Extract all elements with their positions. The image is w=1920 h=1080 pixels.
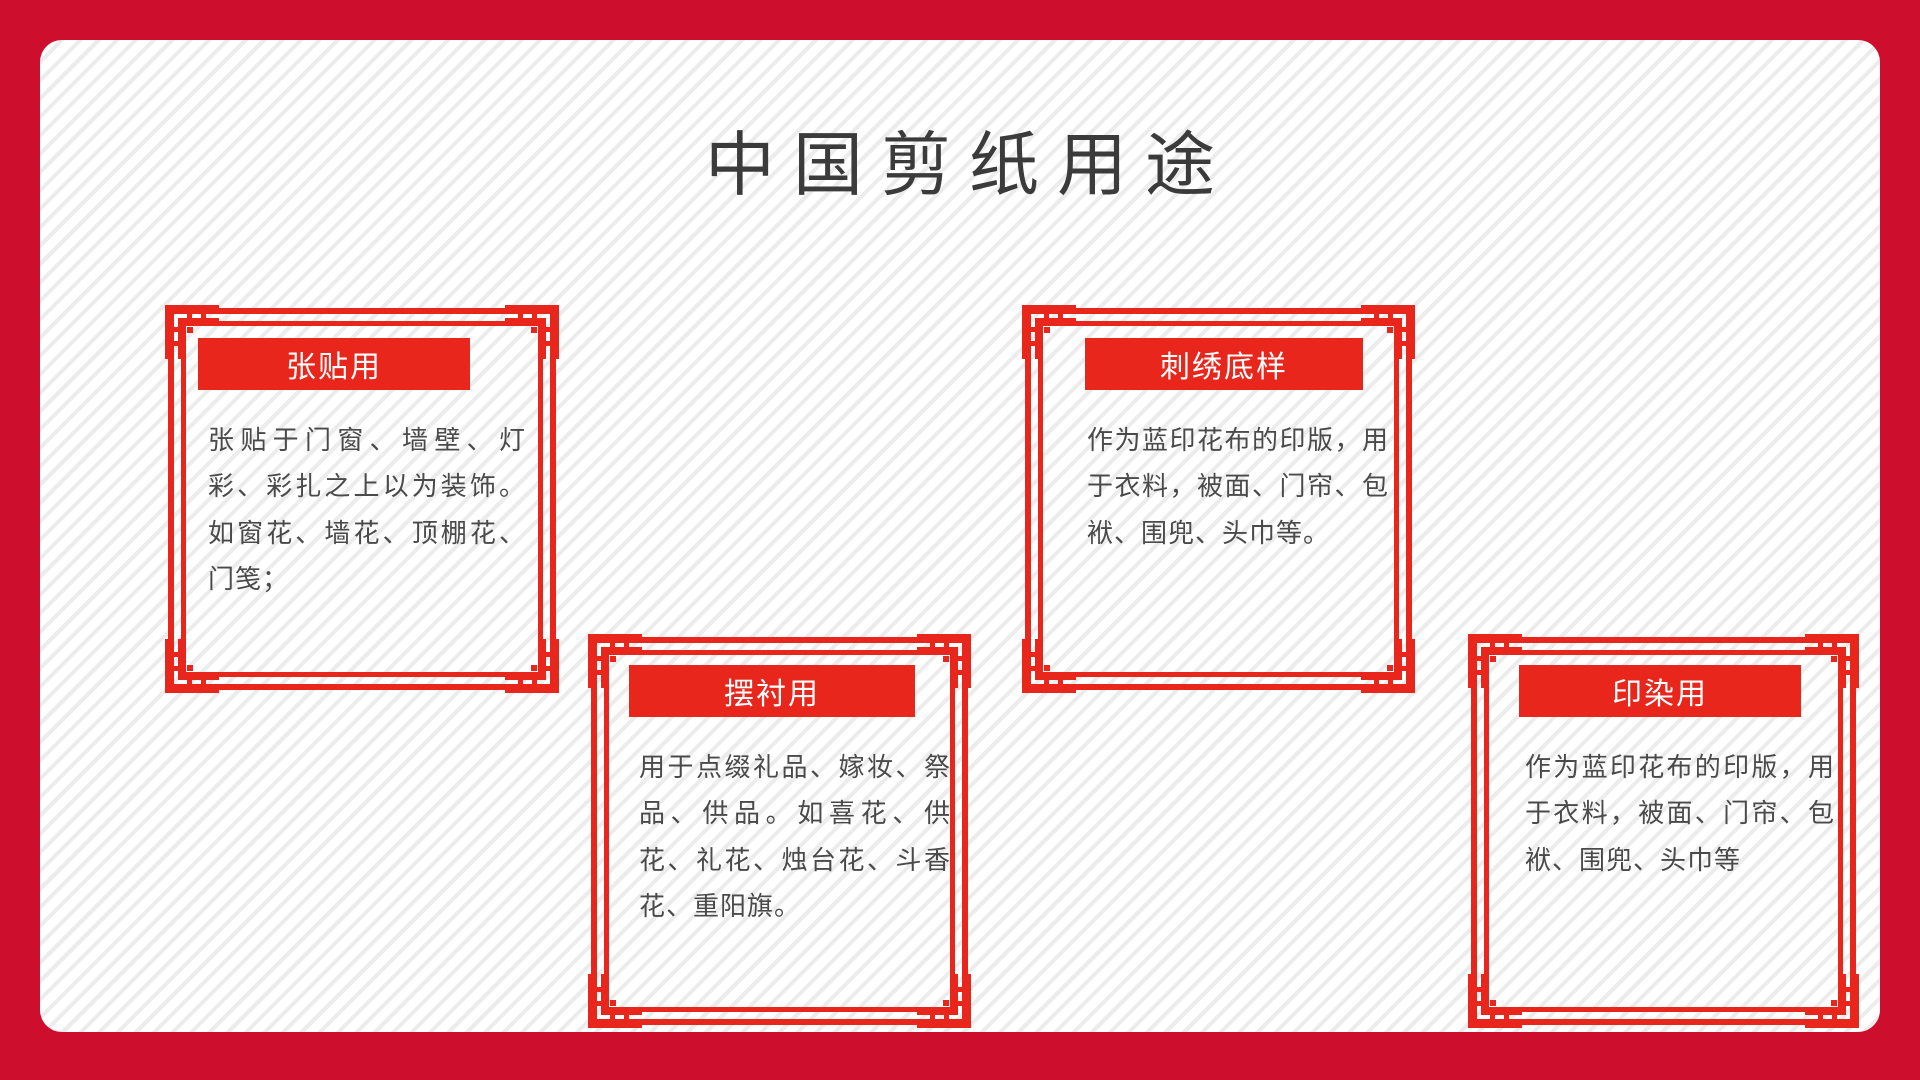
page-title: 中国剪纸用途 [40,132,1880,202]
card-banner-label: 摆衬用 [629,665,915,717]
hui-meander-corner-icon [1361,305,1415,359]
hui-meander-corner-icon [1805,974,1859,1028]
card-body-text: 用于点缀礼品、嫁妆、祭品、供品。如喜花、供花、礼花、烛台花、斗香花、重阳旗。 [639,745,951,930]
card-banner-label: 张贴用 [198,338,470,390]
card-banner-label: 印染用 [1519,665,1801,717]
hui-meander-corner-icon [1022,305,1076,359]
hui-meander-corner-icon [505,639,559,693]
usage-card-yinranyong[interactable]: 印染用 作为蓝印花布的印版，用于衣料，被面、门帘、包袱、围兜、头巾等 [1471,637,1856,1025]
usage-card-zhangtieyong[interactable]: 张贴用 张贴于门窗、墙壁、灯彩、彩扎之上以为装饰。如窗花、墙花、顶棚花、门笺； [168,308,556,690]
hui-meander-corner-icon [165,639,219,693]
hui-meander-corner-icon [1022,639,1076,693]
card-body-text: 作为蓝印花布的印版，用于衣料，被面、门帘、包袱、围兜、头巾等。 [1087,418,1389,557]
hui-meander-corner-icon [1361,639,1415,693]
hui-meander-corner-icon [505,305,559,359]
usage-card-cixiudiyang[interactable]: 刺绣底样 作为蓝印花布的印版，用于衣料，被面、门帘、包袱、围兜、头巾等。 [1025,308,1412,690]
hui-meander-corner-icon [1468,634,1522,688]
card-body-text: 作为蓝印花布的印版，用于衣料，被面、门帘、包袱、围兜、头巾等 [1525,745,1835,884]
hui-meander-corner-icon [1468,974,1522,1028]
hui-meander-corner-icon [588,974,642,1028]
hui-meander-corner-icon [917,634,971,688]
hui-meander-corner-icon [1805,634,1859,688]
card-body-text: 张贴于门窗、墙壁、灯彩、彩扎之上以为装饰。如窗花、墙花、顶棚花、门笺； [208,418,526,603]
usage-card-baichenyong[interactable]: 摆衬用 用于点缀礼品、嫁妆、祭品、供品。如喜花、供花、礼花、烛台花、斗香花、重阳… [591,637,968,1025]
hui-meander-corner-icon [917,974,971,1028]
content-panel: 中国剪纸用途 [40,40,1880,1032]
slide-canvas: 中国剪纸用途 [0,0,1920,1080]
card-banner-label: 刺绣底样 [1085,338,1363,390]
